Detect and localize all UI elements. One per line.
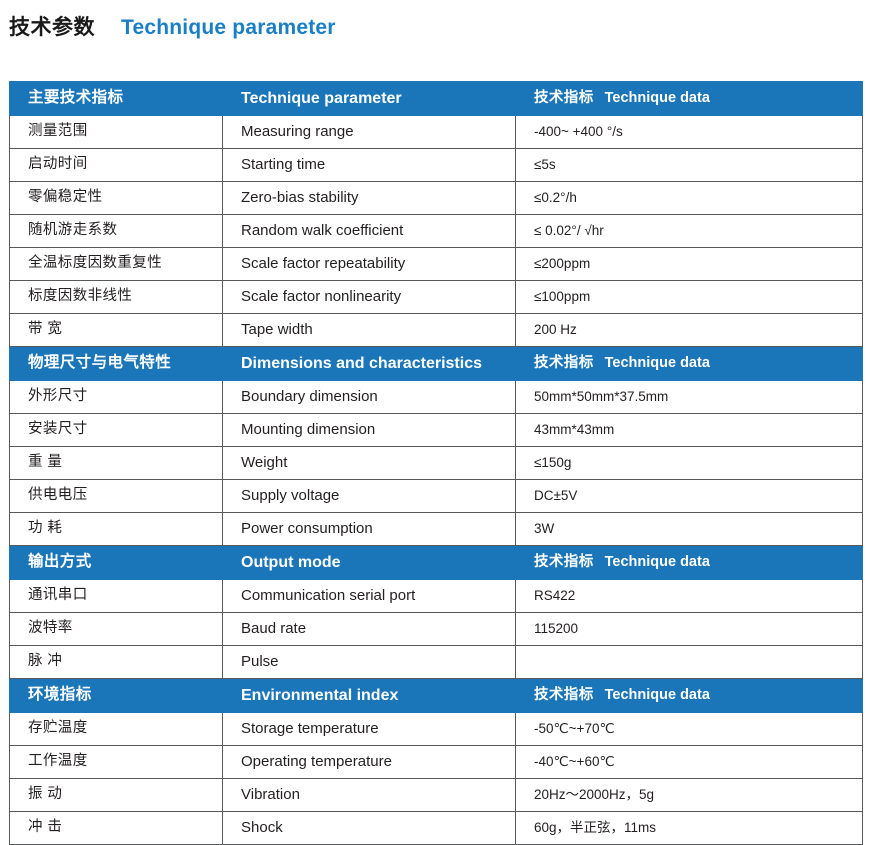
table-body: 主要技术指标Technique parameter技术指标Technique d…: [10, 82, 863, 845]
row-name-cn: 测量范围: [10, 116, 223, 149]
row-name-en: Pulse: [223, 646, 516, 679]
row-value: 200 Hz: [516, 314, 863, 347]
section-header-data-label-cn: 技术指标: [534, 554, 594, 570]
row-name-cn: 振 动: [10, 779, 223, 812]
section-header-name-en: Technique parameter: [223, 82, 516, 116]
section-header-data-label: 技术指标Technique data: [516, 82, 863, 116]
section-header-data-label-cn: 技术指标: [534, 687, 594, 703]
section-header-data-label-en: Technique data: [605, 687, 710, 703]
row-name-en: Storage temperature: [223, 713, 516, 746]
table-row: 通讯串口Communication serial portRS422: [10, 580, 863, 613]
section-header-environmental-index: 环境指标Environmental index技术指标Technique dat…: [10, 679, 863, 713]
table-row: 外形尺寸Boundary dimension50mm*50mm*37.5mm: [10, 381, 863, 414]
row-value: 20Hz～2000Hz，5g: [516, 779, 863, 812]
row-name-cn: 零偏稳定性: [10, 182, 223, 215]
row-name-cn: 启动时间: [10, 149, 223, 182]
row-value: -40℃~+60℃: [516, 746, 863, 779]
section-header-output-mode: 输出方式Output mode技术指标Technique data: [10, 546, 863, 580]
row-value: DC±5V: [516, 480, 863, 513]
row-name-en: Measuring range: [223, 116, 516, 149]
row-name-en: Starting time: [223, 149, 516, 182]
section-header-name-cn: 物理尺寸与电气特性: [10, 347, 223, 381]
row-name-en: Mounting dimension: [223, 414, 516, 447]
row-name-cn: 全温标度因数重复性: [10, 248, 223, 281]
section-header-data-label-en: Technique data: [605, 554, 710, 570]
section-header-data-label-cn: 技术指标: [534, 90, 594, 106]
row-value: ≤5s: [516, 149, 863, 182]
row-name-cn: 通讯串口: [10, 580, 223, 613]
row-name-cn: 脉 冲: [10, 646, 223, 679]
section-header-name-en: Dimensions and characteristics: [223, 347, 516, 381]
row-value: -50℃~+70℃: [516, 713, 863, 746]
row-name-cn: 标度因数非线性: [10, 281, 223, 314]
table-row: 零偏稳定性Zero-bias stability≤0.2°/h: [10, 182, 863, 215]
row-value: ≤150g: [516, 447, 863, 480]
table-row: 存贮温度Storage temperature-50℃~+70℃: [10, 713, 863, 746]
row-name-cn: 供电电压: [10, 480, 223, 513]
page-title-en: Technique parameter: [121, 16, 336, 40]
row-value: 115200: [516, 613, 863, 646]
row-name-en: Scale factor repeatability: [223, 248, 516, 281]
section-header-name-cn: 输出方式: [10, 546, 223, 580]
table-row: 安装尺寸Mounting dimension43mm*43mm: [10, 414, 863, 447]
section-header-technique-parameter: 主要技术指标Technique parameter技术指标Technique d…: [10, 82, 863, 116]
row-name-en: Shock: [223, 812, 516, 845]
table-row: 重 量Weight≤150g: [10, 447, 863, 480]
section-header-name-en: Output mode: [223, 546, 516, 580]
section-header-name-cn: 主要技术指标: [10, 82, 223, 116]
row-value: 50mm*50mm*37.5mm: [516, 381, 863, 414]
section-header-data-label-en: Technique data: [605, 90, 710, 106]
row-name-cn: 外形尺寸: [10, 381, 223, 414]
technique-parameter-table: 主要技术指标Technique parameter技术指标Technique d…: [9, 81, 863, 845]
row-name-cn: 功 耗: [10, 513, 223, 546]
row-value: 3W: [516, 513, 863, 546]
section-header-data-label: 技术指标Technique data: [516, 546, 863, 580]
row-value: ≤0.2°/h: [516, 182, 863, 215]
table-row: 冲 击Shock60g，半正弦，11ms: [10, 812, 863, 845]
page-title-cn: 技术参数: [9, 11, 95, 41]
table-row: 全温标度因数重复性Scale factor repeatability≤200p…: [10, 248, 863, 281]
table-row: 启动时间Starting time≤5s: [10, 149, 863, 182]
row-value: ≤ 0.02°/ √hr: [516, 215, 863, 248]
row-value: ≤100ppm: [516, 281, 863, 314]
table-row: 带 宽Tape width200 Hz: [10, 314, 863, 347]
table-row: 波特率Baud rate115200: [10, 613, 863, 646]
row-name-cn: 冲 击: [10, 812, 223, 845]
section-header-data-label-en: Technique data: [605, 355, 710, 371]
section-header-name-cn: 环境指标: [10, 679, 223, 713]
table-row: 脉 冲Pulse: [10, 646, 863, 679]
row-value: [516, 646, 863, 679]
row-name-en: Operating temperature: [223, 746, 516, 779]
row-name-en: Tape width: [223, 314, 516, 347]
row-name-en: Supply voltage: [223, 480, 516, 513]
table-row: 供电电压Supply voltageDC±5V: [10, 480, 863, 513]
row-value: ≤200ppm: [516, 248, 863, 281]
section-header-dimensions-and-characteristics: 物理尺寸与电气特性Dimensions and characteristics技…: [10, 347, 863, 381]
table-row: 工作温度Operating temperature-40℃~+60℃: [10, 746, 863, 779]
row-value: RS422: [516, 580, 863, 613]
row-name-en: Boundary dimension: [223, 381, 516, 414]
row-name-en: Zero-bias stability: [223, 182, 516, 215]
table-row: 振 动Vibration20Hz～2000Hz，5g: [10, 779, 863, 812]
row-name-en: Scale factor nonlinearity: [223, 281, 516, 314]
row-name-cn: 安装尺寸: [10, 414, 223, 447]
row-name-en: Baud rate: [223, 613, 516, 646]
row-name-cn: 存贮温度: [10, 713, 223, 746]
page-title: 技术参数 Technique parameter: [9, 11, 336, 41]
row-name-cn: 波特率: [10, 613, 223, 646]
row-name-en: Vibration: [223, 779, 516, 812]
row-name-cn: 随机游走系数: [10, 215, 223, 248]
row-value: 43mm*43mm: [516, 414, 863, 447]
row-name-en: Communication serial port: [223, 580, 516, 613]
section-header-data-label: 技术指标Technique data: [516, 679, 863, 713]
table-row: 随机游走系数Random walk coefficient≤ 0.02°/ √h…: [10, 215, 863, 248]
section-header-name-en: Environmental index: [223, 679, 516, 713]
table-row: 测量范围Measuring range-400~ +400 °/s: [10, 116, 863, 149]
table-row: 功 耗Power consumption3W: [10, 513, 863, 546]
row-value: -400~ +400 °/s: [516, 116, 863, 149]
row-name-cn: 工作温度: [10, 746, 223, 779]
section-header-data-label-cn: 技术指标: [534, 355, 594, 371]
section-header-data-label: 技术指标Technique data: [516, 347, 863, 381]
table-row: 标度因数非线性Scale factor nonlinearity≤100ppm: [10, 281, 863, 314]
row-name-cn: 带 宽: [10, 314, 223, 347]
row-name-en: Weight: [223, 447, 516, 480]
row-name-en: Power consumption: [223, 513, 516, 546]
row-name-cn: 重 量: [10, 447, 223, 480]
row-name-en: Random walk coefficient: [223, 215, 516, 248]
row-value: 60g，半正弦，11ms: [516, 812, 863, 845]
